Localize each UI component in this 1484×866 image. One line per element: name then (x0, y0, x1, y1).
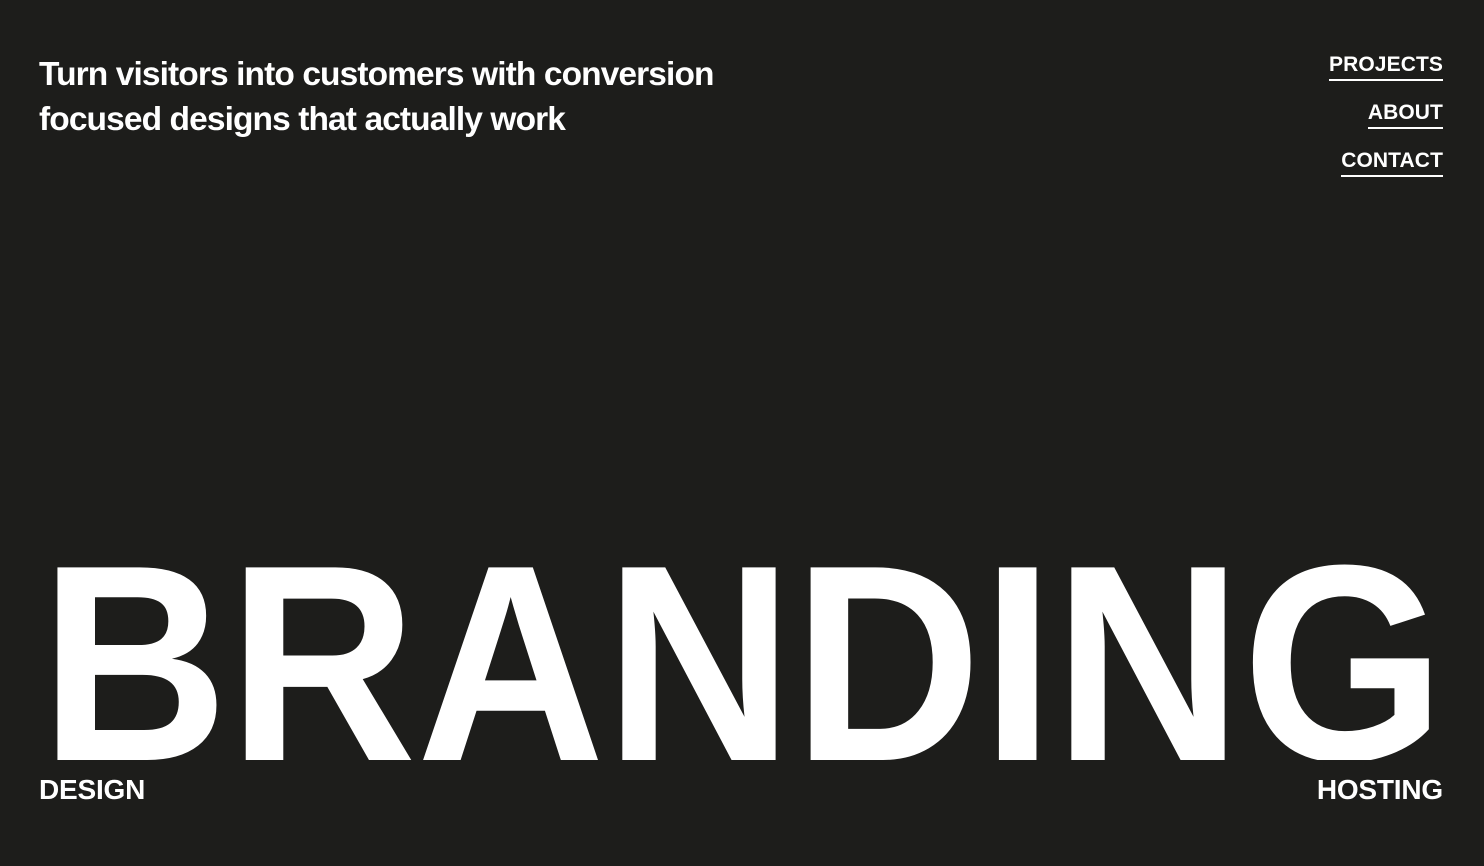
hero-page: Turn visitors into customers with conver… (0, 0, 1484, 866)
page-headline: Turn visitors into customers with conver… (39, 52, 939, 142)
nav-link-projects[interactable]: PROJECTS (1329, 52, 1443, 81)
hero-wordmark-text: BRANDING (40, 548, 1445, 760)
footer-label-hosting[interactable]: HOSTING (1317, 773, 1443, 807)
hero-wordmark-graphic: BRANDING (40, 548, 1445, 760)
nav-link-about[interactable]: ABOUT (1368, 100, 1443, 129)
top-bar: Turn visitors into customers with conver… (0, 0, 1484, 210)
nav-link-contact[interactable]: CONTACT (1341, 148, 1443, 177)
hero-wordmark-container: BRANDING (0, 430, 1484, 760)
footer-label-row: DESIGN HOSTING (0, 773, 1484, 807)
footer-label-design[interactable]: DESIGN (39, 773, 145, 807)
main-navigation: PROJECTS ABOUT CONTACT (1329, 52, 1443, 177)
